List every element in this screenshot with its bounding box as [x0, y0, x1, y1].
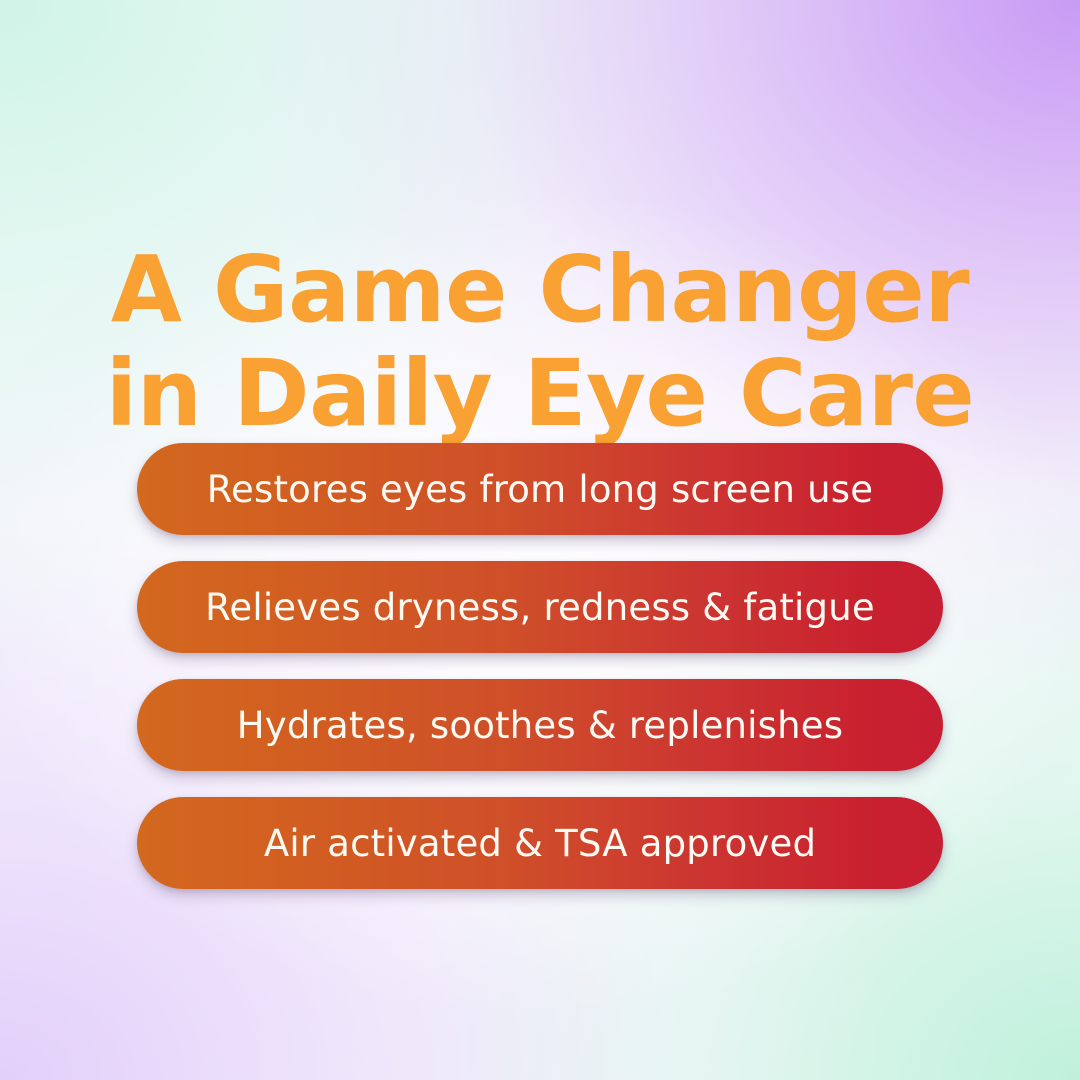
- headline-line-2: in Daily Eye Care: [0, 342, 1080, 446]
- feature-pill-2: Relieves dryness, redness & fatigue: [137, 561, 943, 653]
- feature-pill-4-label: Air activated & TSA approved: [264, 825, 816, 862]
- feature-pill-3-label: Hydrates, soothes & replenishes: [237, 707, 843, 744]
- feature-pill-1-label: Restores eyes from long screen use: [207, 471, 873, 508]
- feature-pill-4: Air activated & TSA approved: [137, 797, 943, 889]
- feature-list: Restores eyes from long screen use Relie…: [137, 443, 943, 889]
- feature-pill-2-label: Relieves dryness, redness & fatigue: [205, 589, 875, 626]
- feature-pill-1: Restores eyes from long screen use: [137, 443, 943, 535]
- feature-pill-3: Hydrates, soothes & replenishes: [137, 679, 943, 771]
- promo-poster: A Game Changer in Daily Eye Care Restore…: [0, 0, 1080, 1080]
- page-title: A Game Changer in Daily Eye Care: [0, 238, 1080, 446]
- headline-line-1: A Game Changer: [0, 238, 1080, 342]
- poster-content: A Game Changer in Daily Eye Care Restore…: [0, 0, 1080, 1080]
